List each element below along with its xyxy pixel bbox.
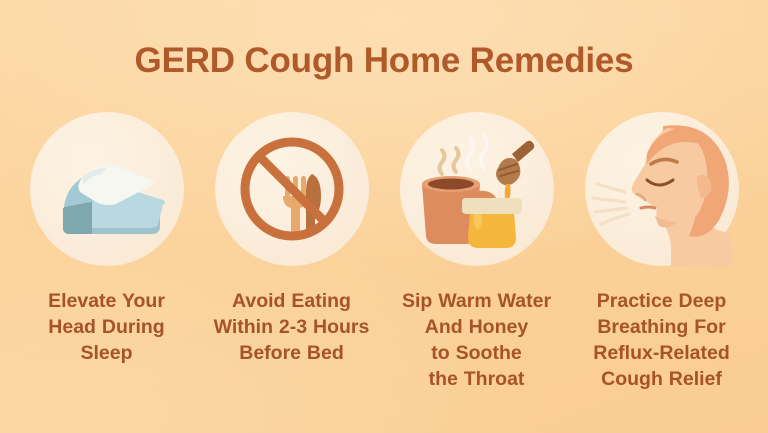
- remedy-card-deep-breathing: Practice Deep Breathing For Reflux-Relat…: [569, 112, 754, 392]
- caption-line: Sip Warm Water: [379, 288, 575, 314]
- page-title: GERD Cough Home Remedies: [135, 39, 634, 83]
- remedy-card-elevate-head: Elevate Your Head During Sleep: [14, 112, 199, 366]
- deep-breathing-face-icon: [585, 112, 739, 266]
- caption-line: Elevate Your: [9, 288, 205, 314]
- caption-line: the Throat: [379, 366, 575, 392]
- caption-line: Cough Relief: [564, 366, 760, 392]
- icon-circle-4: [585, 112, 739, 266]
- caption-line: Within 2-3 Hours: [194, 314, 390, 340]
- remedy-caption-3: Sip Warm Water And Honey to Soothe the T…: [379, 288, 575, 392]
- caption-line: Head During: [9, 314, 205, 340]
- caption-line: And Honey: [379, 314, 575, 340]
- title-container: GERD Cough Home Remedies: [0, 16, 768, 107]
- warm-water-honey-icon: [400, 112, 554, 266]
- remedy-caption-2: Avoid Eating Within 2-3 Hours Before Bed: [194, 288, 390, 366]
- caption-line: to Soothe: [379, 340, 575, 366]
- caption-line: Sleep: [9, 340, 205, 366]
- icon-circle-2: [215, 112, 369, 266]
- remedy-card-warm-water-honey: Sip Warm Water And Honey to Soothe the T…: [384, 112, 569, 392]
- caption-line: Avoid Eating: [194, 288, 390, 314]
- caption-line: Breathing For: [564, 314, 760, 340]
- remedy-caption-1: Elevate Your Head During Sleep: [9, 288, 205, 366]
- no-eating-icon: [215, 112, 369, 266]
- remedy-caption-4: Practice Deep Breathing For Reflux-Relat…: [564, 288, 760, 392]
- gerd-cough-home-remedies-infographic: GERD Cough Home Remedies: [0, 0, 768, 433]
- caption-line: Reflux-Related: [564, 340, 760, 366]
- caption-line: Practice Deep: [564, 288, 760, 314]
- elevated-bed-icon: [30, 112, 184, 266]
- remedy-card-avoid-eating: Avoid Eating Within 2-3 Hours Before Bed: [199, 112, 384, 366]
- caption-line: Before Bed: [194, 340, 390, 366]
- icon-circle-3: [400, 112, 554, 266]
- remedies-row: Elevate Your Head During Sleep: [14, 112, 754, 392]
- icon-circle-1: [30, 112, 184, 266]
